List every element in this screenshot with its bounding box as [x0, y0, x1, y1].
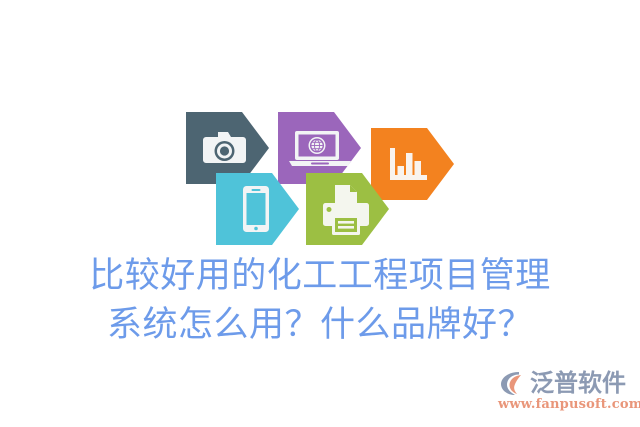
- icon-chevron-banner: [186, 112, 454, 238]
- headline-line-2: 系统怎么用？什么品牌好？: [0, 301, 640, 350]
- fanpu-swoosh-logo-icon: [497, 368, 527, 398]
- brand-logo: 泛普软件 www.fanpusoft.com: [497, 368, 639, 418]
- headline-line-1: 比较好用的化工工程项目管理: [0, 252, 640, 301]
- brand-logo-row: 泛普软件: [497, 368, 626, 398]
- chevron-smartphone: [216, 173, 299, 245]
- poster-canvas: 比较好用的化工工程项目管理 系统怎么用？什么品牌好？ 泛普软件 www.fanp…: [0, 0, 640, 427]
- chevron-printer: [306, 173, 389, 245]
- smartphone-icon: [243, 186, 269, 232]
- brand-name: 泛普软件: [530, 369, 626, 397]
- headline: 比较好用的化工工程项目管理 系统怎么用？什么品牌好？: [0, 252, 640, 350]
- brand-url: www.fanpusoft.com: [498, 397, 640, 412]
